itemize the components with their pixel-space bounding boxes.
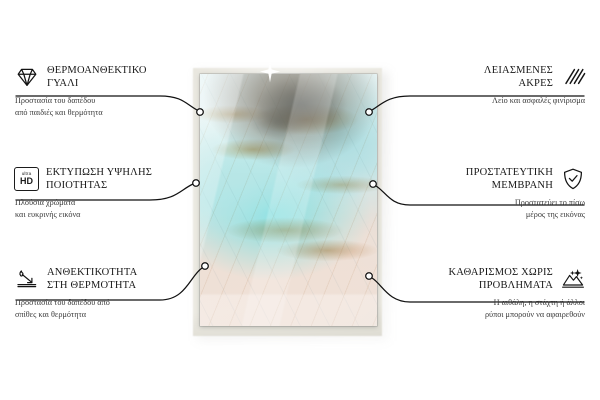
feature-description: Προστασία του δαπέδου από παιδιές και θε… [14,95,192,119]
infographic-canvas: ΘΕΡΜΟΑΝΘΕΚΤΙΚΟ ΓΥΑΛΙ Προστασία του δαπέδ… [0,0,600,400]
feature-title: ΑΝΘΕΚΤΙΚΟΤΗΤΑ ΣΤΗ ΘΕΡΜΟΤΗΤΑ [47,266,137,292]
feature-thermal-glass: ΘΕΡΜΟΑΝΘΕΚΤΙΚΟ ΓΥΑΛΙ Προστασία του δαπέδ… [14,64,192,119]
glass-top-reflection [200,74,377,326]
feature-header: ultra HD ΕΚΤΥΠΩΣΗ ΥΨΗΛΗΣ ΠΟΙΟΤΗΤΑΣ [14,166,192,192]
feature-header: ΚΑΘΑΡΙΣΜΟΣ ΧΩΡΙΣ ΠΡΟΒΛΗΜΑΤΑ [408,266,586,292]
feature-polished-edges: ΛΕΙΑΣΜΕΝΕΣ ΑΚΡΕΣ Λείο και ασφαλές φινίρι… [408,64,586,107]
feature-title: ΘΕΡΜΟΑΝΘΕΚΤΙΚΟ ΓΥΑΛΙ [47,64,147,90]
ultra-hd-bottom-label: HD [20,177,33,186]
flame-deflect-icon [14,266,40,292]
feature-description: Προστασία του δαπέδου από σπίθες και θερ… [14,297,192,321]
feature-header: ΑΝΘΕΚΤΙΚΟΤΗΤΑ ΣΤΗ ΘΕΡΜΟΤΗΤΑ [14,266,192,292]
feature-description: Προστατεύει το πίσω μέρος της εικόνας [408,197,586,221]
ultra-hd-icon: ultra HD [14,167,39,191]
feature-protective-membrane: ΠΡΟΣΤΑΤΕΥΤΙΚΗ ΜΕΜΒΡΑΝΗ Προστατεύει το πί… [408,166,586,221]
diamond-icon [14,64,40,90]
feature-description: Λείο και ασφαλές φινίρισμα [408,95,586,107]
feature-description: Πλούσια χρώματα και ευκρινής εικόνα [14,197,192,221]
feature-header: ΠΡΟΣΤΑΤΕΥΤΙΚΗ ΜΕΜΒΡΑΝΗ [408,166,586,192]
feature-title: ΚΑΘΑΡΙΣΜΟΣ ΧΩΡΙΣ ΠΡΟΒΛΗΜΑΤΑ [448,266,553,292]
feature-high-quality-print: ultra HD ΕΚΤΥΠΩΣΗ ΥΨΗΛΗΣ ΠΟΙΟΤΗΤΑΣ Πλούσ… [14,166,192,221]
feature-title: ΛΕΙΑΣΜΕΝΕΣ ΑΚΡΕΣ [484,64,553,90]
feature-heat-resistance: ΑΝΘΕΚΤΙΚΟΤΗΤΑ ΣΤΗ ΘΕΡΜΟΤΗΤΑ Προστασία το… [14,266,192,321]
diagonal-lines-icon [560,64,586,90]
feature-title: ΠΡΟΣΤΑΤΕΥΤΙΚΗ ΜΕΜΒΡΑΝΗ [466,166,553,192]
product-glass-panel [193,68,382,336]
printed-artwork [200,74,377,326]
feature-description: Η αιθάλη, η στάχτη ή άλλοι ρύποι μπορούν… [408,297,586,321]
sparkle-clean-icon [560,266,586,292]
feature-header: ΘΕΡΜΟΑΝΘΕΚΤΙΚΟ ΓΥΑΛΙ [14,64,192,90]
feature-header: ΛΕΙΑΣΜΕΝΕΣ ΑΚΡΕΣ [408,64,586,90]
feature-title: ΕΚΤΥΠΩΣΗ ΥΨΗΛΗΣ ΠΟΙΟΤΗΤΑΣ [46,166,152,192]
feature-easy-cleaning: ΚΑΘΑΡΙΣΜΟΣ ΧΩΡΙΣ ΠΡΟΒΛΗΜΑΤΑ Η αιθάλη, η … [408,266,586,321]
shield-check-icon [560,166,586,192]
